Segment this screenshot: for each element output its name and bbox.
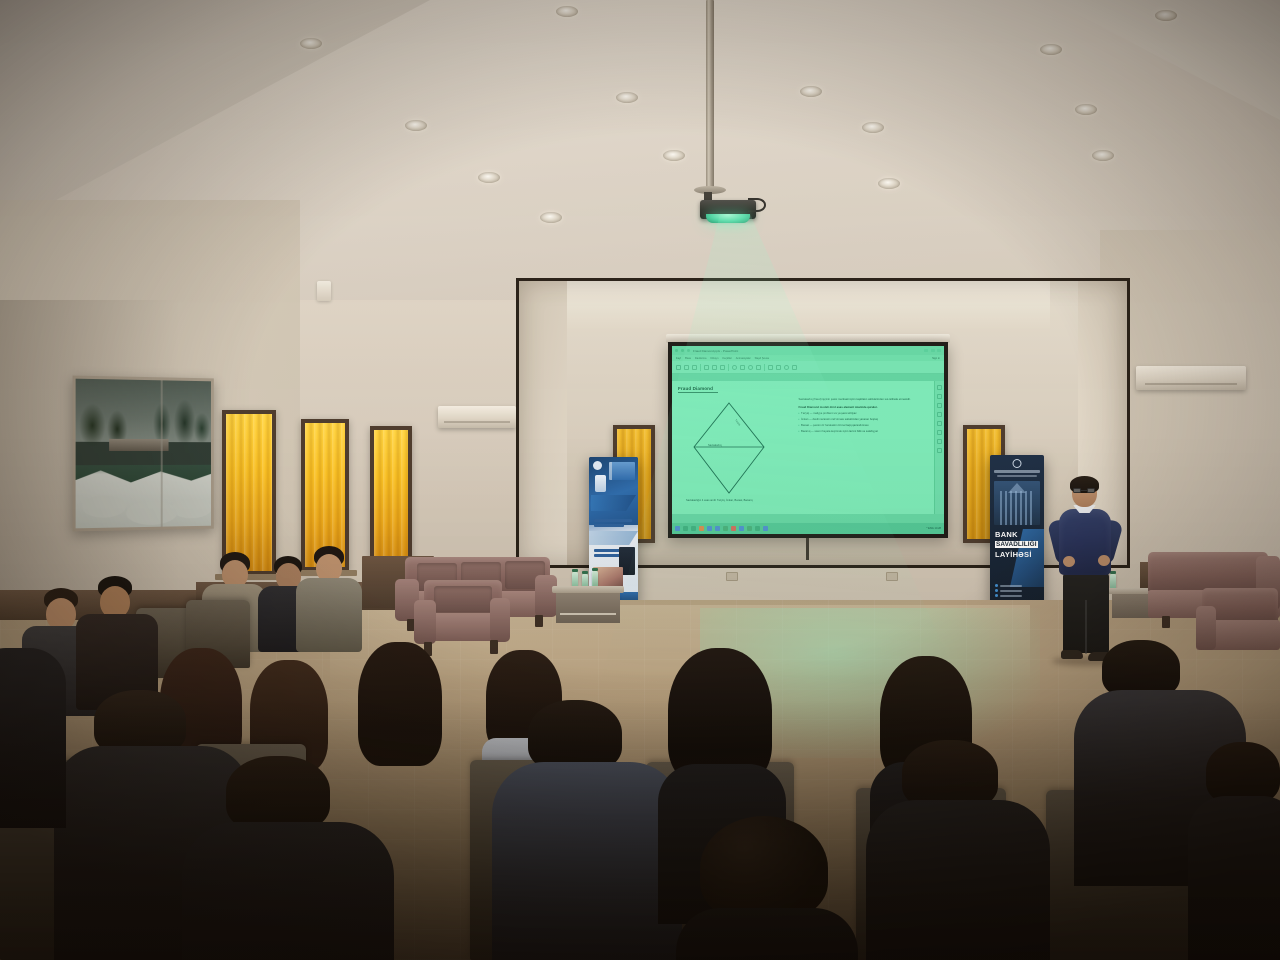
painting-panel-divider (161, 380, 163, 526)
tab-insert[interactable]: Daxiletmə (695, 357, 707, 360)
undo-icon[interactable] (681, 349, 684, 352)
projector-lens-glow (706, 214, 750, 223)
person-torso (676, 908, 858, 960)
bullet-dot-icon: ▪ (799, 418, 800, 422)
screen-surface: Fraud Diamond.pptx - PowerPoint Fayl Əsa… (672, 346, 944, 534)
recessed-downlight (556, 6, 578, 17)
slide-bullet-text: Təzyiq — maliyyə problemi və ya şəxsi eh… (801, 412, 857, 416)
find-icon[interactable] (792, 365, 797, 370)
banner-right-header-line (997, 475, 1037, 478)
sofa-leg (535, 615, 543, 627)
mail-icon (995, 594, 998, 597)
fraud-diamond-shape (692, 401, 766, 495)
banner-right-bank-literacy: BANK SAVADLILIĞI LAYİHƏSİ (990, 455, 1044, 615)
raise-hand-icon[interactable] (937, 403, 942, 408)
align-icon[interactable] (768, 365, 773, 370)
picture-icon[interactable] (784, 365, 789, 370)
presenter (1044, 478, 1128, 668)
recessed-downlight (616, 92, 638, 103)
powerpoint-icon[interactable] (731, 526, 736, 531)
presenter-hand (1098, 555, 1110, 566)
coffee-table (552, 586, 624, 628)
meeting-side-panel[interactable] (934, 381, 944, 514)
banner-right-contact-line (995, 584, 1022, 587)
slide-canvas[interactable]: Fraud Diamond Saxtakarlıq (672, 381, 934, 514)
banner-left-graphic (609, 462, 635, 480)
banner-right-contact-line (995, 594, 1022, 597)
banner-right-title-line3: LAYİHƏSİ (995, 551, 1032, 559)
bold-icon[interactable] (704, 365, 709, 370)
chrome-icon[interactable] (747, 526, 752, 531)
slide-bullet: ▪ İmkan — daxili nəzarətin zəif olması s… (799, 418, 929, 422)
banner-left-text-line (594, 524, 624, 527)
armchair-cushion (434, 586, 492, 612)
person-hair (226, 756, 330, 832)
share-icon[interactable] (937, 439, 942, 444)
banner-right-contact-block (995, 584, 1022, 599)
wall-socket-plate (886, 572, 898, 581)
copy-icon[interactable] (684, 365, 689, 370)
presenter-leg-split (1085, 600, 1087, 654)
recessed-downlight (1155, 10, 1177, 21)
ribbon-toolbar[interactable] (672, 361, 944, 374)
shape-oval-icon[interactable] (732, 365, 737, 370)
recessed-downlight (862, 122, 884, 133)
explorer-icon[interactable] (699, 526, 704, 531)
banner-right-header-line (994, 470, 1040, 473)
app-title-bar: Fraud Diamond.pptx - PowerPoint (672, 346, 944, 355)
recessed-downlight (540, 212, 562, 223)
banner-right-title-line1: BANK (995, 531, 1018, 539)
slide-title: Fraud Diamond (678, 386, 928, 391)
people-icon[interactable] (937, 394, 942, 399)
windows-taskbar[interactable]: ^ ENG 14:28 (672, 523, 944, 534)
table-top (552, 586, 624, 593)
close-icon[interactable] (937, 349, 941, 352)
bottle-cap (582, 571, 588, 574)
bottle-cap (592, 568, 598, 571)
diamond-center-label: Saxtakarlıq (708, 444, 721, 447)
tab-file[interactable]: Fayl (676, 357, 681, 360)
velvet-armchair (414, 580, 510, 662)
recessed-downlight (1075, 104, 1097, 115)
diamond-caption: Saxtakarlığın 4 əsas amili: Təzyiq, İmka… (686, 499, 756, 503)
presenter-shoe (1061, 650, 1083, 659)
slide-bullet-list: ▪ Təzyiq — maliyyə problemi və ya şəxsi … (799, 412, 929, 434)
ribbon-separator (764, 364, 765, 371)
slide-columns: Saxtakarlıq Təzyiq Saxtakarlığın 4 əsas … (678, 397, 928, 506)
slide-paragraph: Saxtakarlıq (fraud) işçinin şəxsi mənfəə… (799, 397, 929, 401)
projection-screen[interactable]: Fraud Diamond.pptx - PowerPoint Fayl Əsa… (668, 342, 948, 538)
person-hair (1206, 742, 1280, 804)
armchair-armrest (414, 600, 436, 644)
winter-landscape-painting (73, 376, 214, 532)
tab-transitions[interactable]: Keçidlər (722, 357, 731, 360)
task-view-icon[interactable] (691, 526, 696, 531)
edge-icon[interactable] (707, 526, 712, 531)
eyeglasses-icon (1073, 488, 1095, 493)
slide-bullet-text: Bacarıq — sxemi həyata keçirmək üçün laz… (801, 430, 878, 434)
minimize-icon[interactable] (924, 349, 928, 352)
teams-icon[interactable] (739, 526, 744, 531)
slide-thumbnail-strip[interactable] (672, 374, 944, 381)
contact-text-bar (1000, 585, 1022, 587)
mic-icon[interactable] (937, 430, 942, 435)
velvet-armchair (1196, 588, 1280, 672)
recessed-downlight (800, 86, 822, 97)
recessed-downlight (1040, 44, 1062, 55)
window-title: Fraud Diamond.pptx - PowerPoint (693, 349, 738, 353)
banner-right-contact-line (995, 589, 1022, 592)
tab-animations[interactable]: Animasiyalar (736, 357, 751, 360)
slide-title-underline (678, 392, 718, 393)
phone-icon (995, 584, 998, 587)
italic-icon[interactable] (712, 365, 717, 370)
projector-cable (748, 198, 766, 212)
window-curtain (226, 414, 272, 571)
globe-icon (995, 589, 998, 592)
cut-icon[interactable] (676, 365, 681, 370)
diamond-svg (692, 401, 766, 495)
tab-design[interactable]: Dizayn (710, 357, 718, 360)
ribbon-separator (700, 364, 701, 371)
system-tray[interactable]: ^ ENG 14:28 (926, 527, 941, 530)
presenter-hand (1063, 556, 1075, 567)
split-air-conditioner (438, 406, 516, 428)
sofa-backrest (1148, 552, 1268, 592)
recessed-downlight (878, 178, 900, 189)
armchair-armrest (1196, 606, 1216, 650)
sofa-leg (1162, 616, 1170, 628)
save-icon[interactable] (675, 349, 678, 352)
armchair-armrest (490, 598, 510, 642)
banner-left-chevron (589, 531, 638, 545)
tab-home[interactable]: Əsas (685, 357, 691, 360)
react-icon[interactable] (937, 412, 942, 417)
chat-icon[interactable] (937, 385, 942, 390)
mail-icon[interactable] (763, 526, 768, 531)
search-icon[interactable] (683, 526, 688, 531)
wall-socket-plate (726, 572, 738, 581)
split-air-conditioner (1136, 366, 1246, 390)
shape-triangle-icon[interactable] (756, 365, 761, 370)
recessed-downlight (405, 120, 427, 131)
bullet-dot-icon: ▪ (799, 424, 800, 428)
slide-bullet-text: İmkan — daxili nəzarətin zəif olması səb… (801, 418, 878, 422)
excel-icon[interactable] (723, 526, 728, 531)
banner-right-building-photo (994, 481, 1040, 525)
shape-rect-icon[interactable] (740, 365, 745, 370)
table-body (556, 593, 620, 623)
word-icon[interactable] (715, 526, 720, 531)
slide-bullet: ▪ Bacarıq — sxemi həyata keçirmək üçün l… (799, 430, 929, 434)
bullet-dot-icon: ▪ (799, 430, 800, 434)
person-curly-hair (700, 816, 828, 920)
media-icon[interactable] (755, 526, 760, 531)
recessed-downlight (300, 38, 322, 49)
slide-bullet-text: Bəraət — şəxsin öz hərəkətini özünə haqq… (801, 424, 869, 428)
person-torso (0, 648, 66, 828)
wall-speaker-box (317, 281, 331, 301)
slide-left-column: Saxtakarlıq Təzyiq Saxtakarlığın 4 əsas … (678, 397, 796, 506)
windows-start-icon[interactable] (675, 526, 680, 531)
table-shelf (560, 613, 616, 615)
screen-pull-cord[interactable] (806, 538, 809, 560)
slide-bullet: ▪ Təzyiq — maliyyə problemi və ya şəxsi … (799, 412, 929, 416)
shape-arrow-icon[interactable] (748, 365, 753, 370)
banner-right-logo (1013, 459, 1022, 468)
editor-body: Fraud Diamond Saxtakarlıq (672, 381, 944, 514)
recessed-downlight (663, 150, 685, 161)
tall-window (370, 426, 412, 568)
person-torso (182, 822, 394, 960)
text-box-icon[interactable] (776, 365, 781, 370)
redo-icon[interactable] (687, 349, 690, 352)
notes-pane[interactable] (672, 514, 944, 523)
armchair-leg (490, 640, 498, 654)
contact-text-bar (1000, 590, 1022, 592)
contact-text-bar (1000, 595, 1022, 597)
banner-left-phone-graphic (595, 475, 606, 492)
bullet-dot-icon: ▪ (799, 412, 800, 416)
banner-left-text-line (594, 519, 632, 522)
person-torso (296, 578, 362, 652)
ribbon-separator (728, 364, 729, 371)
recessed-downlight (478, 172, 500, 183)
format-painter-icon[interactable] (692, 365, 697, 370)
maximize-icon[interactable] (931, 349, 935, 352)
window-controls[interactable] (924, 349, 941, 352)
projector-mount-pole (706, 0, 714, 190)
slide-paragraph: Fraud Diamond modeli dörd əsas element ü… (799, 405, 929, 409)
underline-icon[interactable] (720, 365, 725, 370)
window-curtain (374, 430, 408, 564)
slide-bullet: ▪ Bəraət — şəxsin öz hərəkətini özünə ha… (799, 424, 929, 428)
recessed-downlight (1092, 150, 1114, 161)
tab-slideshow[interactable]: Slayd Şousu (755, 357, 770, 360)
person-torso (866, 800, 1050, 960)
bottle-cap (572, 569, 578, 572)
taskbar-apps[interactable] (675, 526, 768, 531)
slide-right-column: Saxtakarlıq (fraud) işçinin şəxsi mənfəə… (796, 397, 929, 506)
sign-in-label[interactable]: Sign in (932, 357, 940, 360)
person-long-hair (358, 642, 442, 766)
banner-right-title-line2: SAVADLILIĞI (995, 541, 1038, 548)
camera-icon[interactable] (937, 421, 942, 426)
person-jacket (492, 762, 682, 960)
more-icon[interactable] (937, 448, 942, 453)
banner-left-logo (593, 461, 602, 470)
quick-access-toolbar[interactable]: Fraud Diamond.pptx - PowerPoint (675, 349, 738, 353)
powerpoint-window[interactable]: Fraud Diamond.pptx - PowerPoint Fayl Əsa… (672, 346, 944, 534)
banner-left-text-line (594, 554, 620, 557)
person-torso (1188, 796, 1280, 960)
conference-hall-photo: Fraud Diamond.pptx - PowerPoint Fayl Əsa… (0, 0, 1280, 960)
tall-window (222, 410, 276, 575)
